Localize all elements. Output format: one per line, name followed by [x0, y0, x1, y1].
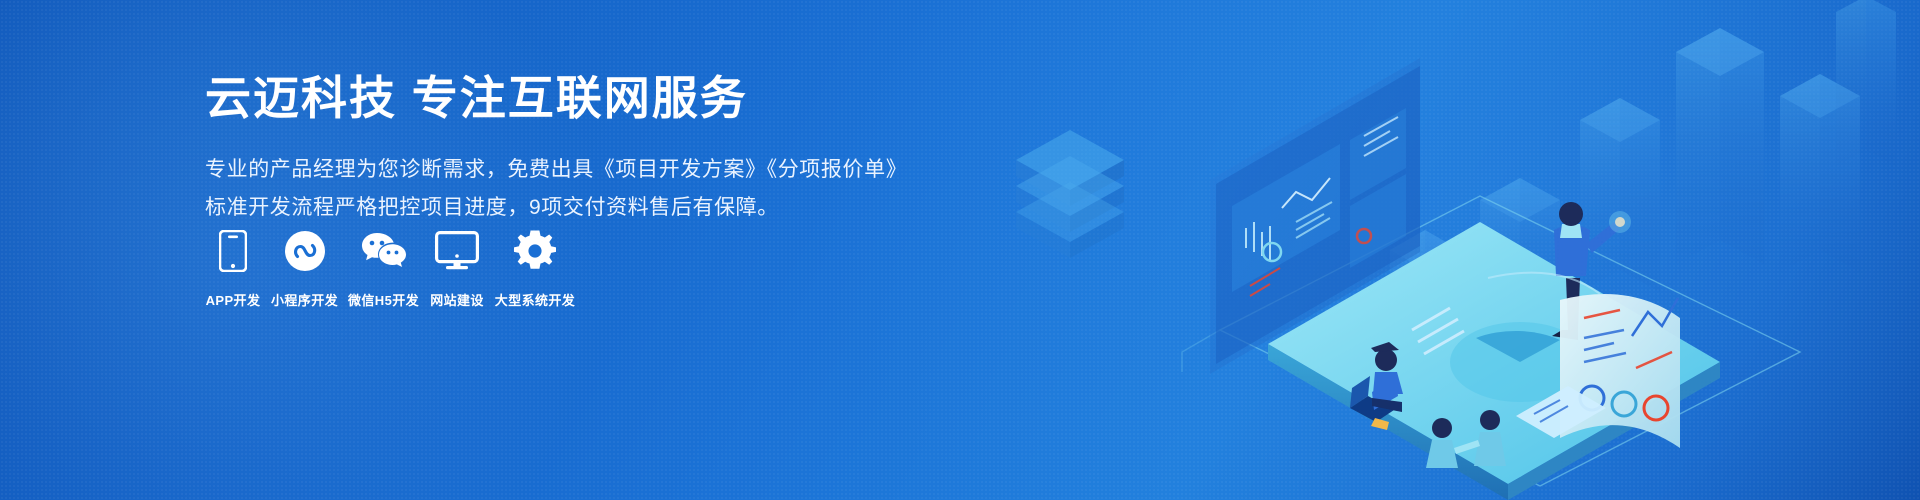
service-label-mini-program: 小程序开发	[271, 290, 338, 309]
service-label-app: APP开发	[206, 290, 261, 309]
mini-program-icon	[284, 228, 326, 274]
service-list: APP开发 小程序开发 微信	[205, 228, 575, 309]
service-label-wechat-h5: 微信H5开发	[348, 290, 419, 309]
service-item-mini-program[interactable]: 小程序开发	[271, 228, 338, 309]
wechat-icon	[361, 228, 407, 274]
subtitle-line-1: 专业的产品经理为您诊断需求，免费出具《项目开发方案》《分项报价单》	[205, 151, 925, 189]
service-item-app[interactable]: APP开发	[205, 228, 261, 309]
service-item-large-system[interactable]: 大型系统开发	[495, 228, 575, 309]
hero-subtitle: 专业的产品经理为您诊断需求，免费出具《项目开发方案》《分项报价单》 标准开发流程…	[205, 151, 925, 227]
service-item-website[interactable]: 网站建设	[429, 228, 485, 309]
gear-icon	[514, 228, 556, 274]
hero-copy: 云迈科技 专注互联网服务 专业的产品经理为您诊断需求，免费出具《项目开发方案》《…	[205, 72, 925, 227]
service-label-large-system: 大型系统开发	[495, 290, 575, 309]
server-stack	[1016, 130, 1124, 258]
mobile-phone-icon	[219, 228, 247, 274]
subtitle-line-2: 标准开发流程严格把控项目进度，9项交付资料售后有保障。	[205, 189, 925, 227]
hero-banner: 云迈科技 专注互联网服务 专业的产品经理为您诊断需求，免费出具《项目开发方案》《…	[0, 0, 1920, 500]
illustration	[920, 0, 1920, 500]
service-label-website: 网站建设	[430, 290, 484, 309]
monitor-icon	[435, 228, 479, 274]
service-item-wechat-h5[interactable]: 微信H5开发	[348, 228, 419, 309]
page-title: 云迈科技 专注互联网服务	[205, 72, 925, 125]
